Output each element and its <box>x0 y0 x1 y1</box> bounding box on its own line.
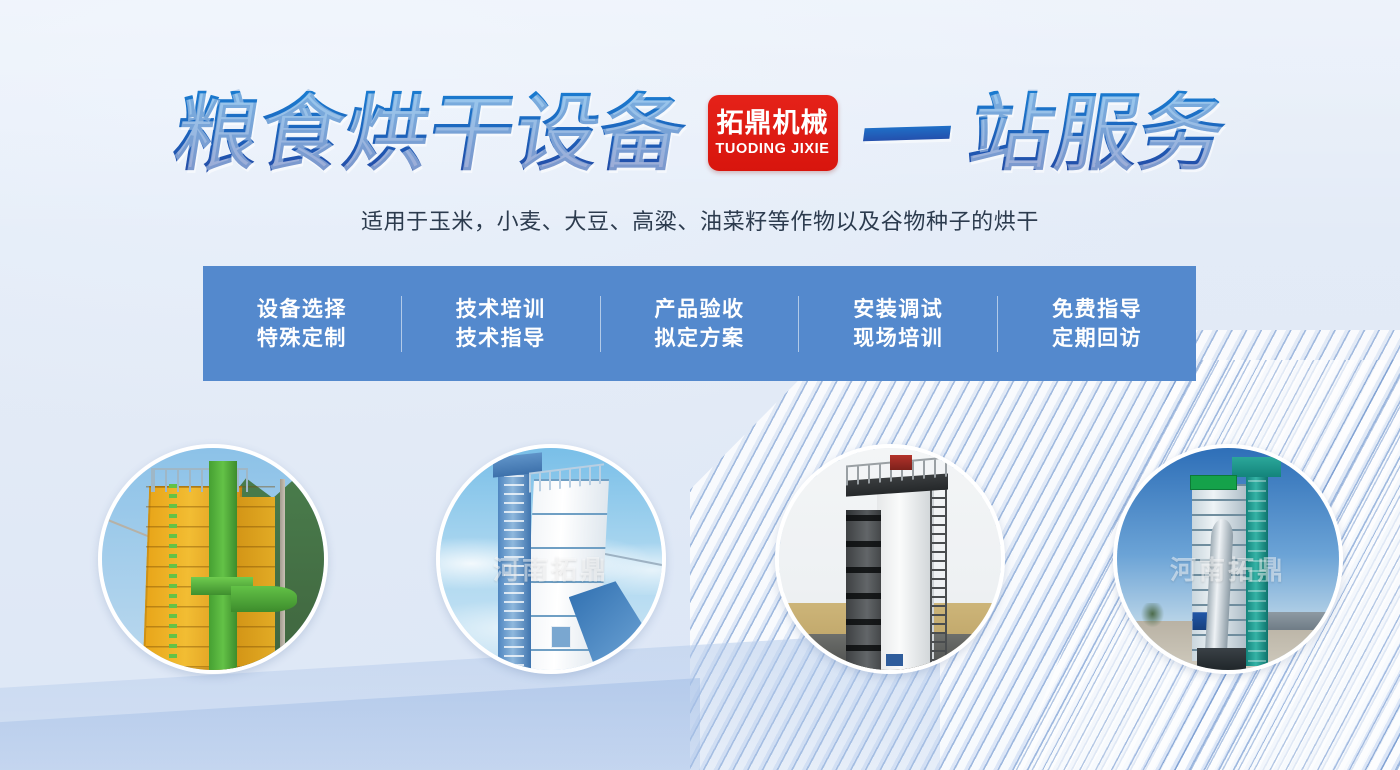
ladder <box>169 484 178 670</box>
feature-item-2[interactable]: 技术培训 技术指导 <box>402 295 600 353</box>
base-unit <box>886 654 904 665</box>
feature-item-3-line1: 产品验收 <box>654 295 744 324</box>
photo-4-watermark: 河南拓鼎 <box>1117 550 1339 587</box>
photo-2-scene: 河南拓鼎 <box>440 448 662 670</box>
feature-item-2-line1: 技术培训 <box>456 295 546 324</box>
company-sign <box>1190 475 1236 490</box>
feature-item-3[interactable]: 产品验收 拟定方案 <box>601 295 799 353</box>
base-unit <box>1197 648 1246 670</box>
feature-item-4[interactable]: 安装调试 现场培训 <box>799 295 997 353</box>
product-photo-1[interactable] <box>98 444 328 674</box>
feature-item-2-line2: 技术指导 <box>456 324 546 353</box>
headline-dash-stroke <box>862 125 950 140</box>
product-photo-3[interactable] <box>775 444 1005 674</box>
feature-item-3-line2: 拟定方案 <box>654 324 744 353</box>
product-photo-4[interactable]: 河南拓鼎 <box>1113 444 1343 674</box>
headline-part-1: 粮食烘干设备 <box>169 91 692 175</box>
feature-item-5-line2: 定期回访 <box>1052 324 1142 353</box>
photo-1-scene <box>102 448 324 670</box>
photo-2-watermark: 河南拓鼎 <box>440 550 662 587</box>
ladder <box>930 488 947 670</box>
feature-item-4-line2: 现场培训 <box>853 324 943 353</box>
feature-item-4-line1: 安装调试 <box>853 295 943 324</box>
feature-bar: 设备选择 特殊定制 技术培训 技术指导 产品验收 拟定方案 安装调试 现场培训 … <box>203 266 1196 381</box>
discharge-duct <box>231 586 298 613</box>
subtitle: 适用于玉米，小麦、大豆、高粱、油菜籽等作物以及谷物种子的烘干 <box>0 204 1400 236</box>
feature-item-1[interactable]: 设备选择 特殊定制 <box>203 295 401 353</box>
headline-part-2: 站服务 <box>963 91 1231 175</box>
feature-item-1-line2: 特殊定制 <box>257 324 347 353</box>
dryer-body <box>877 488 935 670</box>
roof-equipment <box>890 455 912 471</box>
control-panel <box>551 626 571 648</box>
logo-badge: 拓鼎机械 TUODING JIXIE <box>708 95 838 171</box>
logo-chinese-name: 拓鼎机械 <box>717 110 829 137</box>
photo-4-scene: 河南拓鼎 <box>1117 448 1339 670</box>
elevator-column <box>209 461 238 670</box>
photo-3-scene <box>779 448 1001 670</box>
feature-item-5[interactable]: 免费指导 定期回访 <box>998 295 1196 353</box>
feature-item-1-line1: 设备选择 <box>257 295 347 324</box>
utility-pole <box>280 479 286 670</box>
product-photo-2[interactable]: 河南拓鼎 <box>436 444 666 674</box>
tree <box>1139 603 1166 630</box>
logo-pinyin-name: TUODING JIXIE <box>715 142 829 157</box>
tower-head <box>1232 457 1281 477</box>
feature-item-5-line1: 免费指导 <box>1052 295 1142 324</box>
duct-fins <box>846 515 882 670</box>
promo-banner: 粮食烘干设备 拓鼎机械 TUODING JIXIE 站服务 适用于玉米，小麦、大… <box>0 0 1400 770</box>
headline: 粮食烘干设备 拓鼎机械 TUODING JIXIE 站服务 <box>0 78 1400 188</box>
